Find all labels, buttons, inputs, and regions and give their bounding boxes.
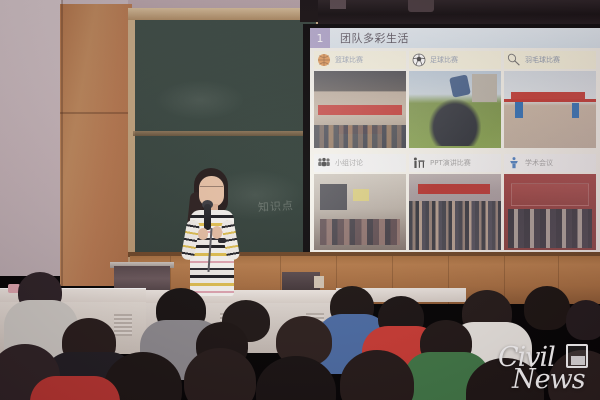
basketball-icon <box>317 53 331 67</box>
wood-panel-edge <box>61 0 63 286</box>
lectern-person-icon <box>412 156 426 170</box>
chalkboard-frame-top <box>128 8 323 20</box>
slide-title: 团队多彩生活 <box>340 30 409 46</box>
slide-title-bar: 1 团队多彩生活 <box>310 28 600 48</box>
cell-label: 足球比赛 <box>430 55 458 65</box>
lecture-hall-photo: 知识点 1 团队多彩生活 <box>0 0 600 400</box>
photo-basketball <box>314 71 406 148</box>
audience-body <box>30 376 120 400</box>
slide-body: 篮球比赛 <box>310 48 600 253</box>
group-people-icon <box>317 156 331 170</box>
cell-label: 小组讨论 <box>335 158 363 168</box>
slide-row-activities: 小组讨论 <box>310 151 600 254</box>
left-wall-plaster <box>0 0 62 276</box>
football-icon <box>412 53 426 67</box>
slide-cell-discussion: 小组讨论 <box>314 154 406 251</box>
presenter-hand-left <box>198 228 208 240</box>
slide-cell-conference: 学术会议 <box>504 154 596 251</box>
cell-label: 羽毛球比赛 <box>525 55 560 65</box>
chalk-smudge <box>155 80 245 120</box>
slide-cell-ppt-contest: PPT演讲比赛 <box>409 154 501 251</box>
cell-label: PPT演讲比赛 <box>430 158 471 168</box>
slide-number-badge: 1 <box>310 28 330 48</box>
ceiling-bracket <box>330 0 346 9</box>
podium-icon <box>507 156 521 170</box>
slide-cell-basketball: 篮球比赛 <box>314 51 406 148</box>
photo-football <box>409 71 501 148</box>
presenter-wristwatch <box>218 238 226 243</box>
wood-door-panel <box>60 4 132 286</box>
cabinet-vent <box>114 314 132 336</box>
photo-conference <box>504 174 596 251</box>
screen-roller-housing <box>318 0 600 26</box>
photo-ppt-contest <box>409 174 501 251</box>
photo-discussion <box>314 174 406 251</box>
projector-mount <box>408 0 434 12</box>
cell-header: 羽毛球比赛 <box>504 51 596 69</box>
projection-screen: 1 团队多彩生活 篮球比赛 <box>310 28 600 253</box>
slide-cell-badminton: 羽毛球比赛 <box>504 51 596 148</box>
cell-label: 学术会议 <box>525 158 553 168</box>
cell-label: 篮球比赛 <box>335 55 363 65</box>
cell-header: 足球比赛 <box>409 51 501 69</box>
slide-row-sports: 篮球比赛 <box>310 48 600 151</box>
chalkboard-rail <box>133 131 317 136</box>
audience-head-front <box>548 350 600 400</box>
cell-header: 小组讨论 <box>314 154 406 172</box>
wood-panel-seam <box>60 112 132 114</box>
microphone <box>204 204 211 230</box>
presenter <box>176 168 246 296</box>
slide-cell-football: 足球比赛 <box>409 51 501 148</box>
chalkboard-writing: 知识点 <box>257 197 302 221</box>
desk-object <box>314 276 324 288</box>
cell-header: 篮球比赛 <box>314 51 406 69</box>
audience-head <box>524 286 570 330</box>
photo-badminton <box>504 71 596 148</box>
presenter-brow <box>200 186 223 191</box>
cell-header: 学术会议 <box>504 154 596 172</box>
badminton-racket-icon <box>507 53 521 67</box>
audience-head <box>566 300 600 340</box>
cell-header: PPT演讲比赛 <box>409 154 501 172</box>
